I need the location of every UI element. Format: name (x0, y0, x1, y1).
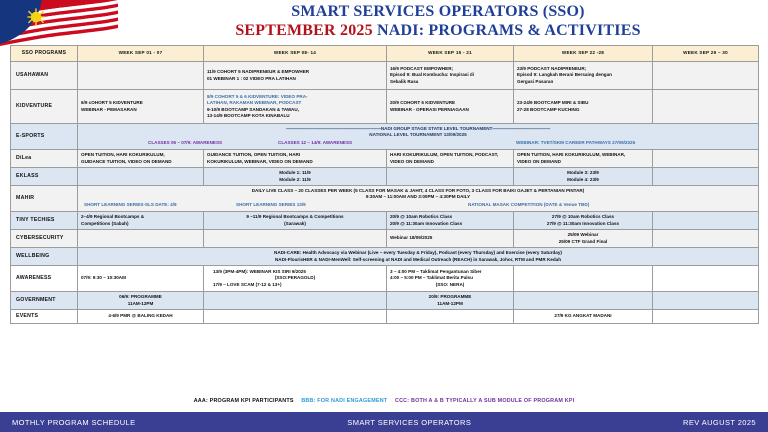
table-row-usahawan: USAHAWAN 11/9 COHORT 5 NADIPRENEUR & EMP… (11, 62, 759, 90)
legend-ccc: CCC: BOTH A & B TYPICALLY A SUB MODULE O… (395, 398, 574, 404)
cell-kidventure-w5 (653, 90, 759, 124)
cell-dilea-w5 (653, 150, 759, 168)
title-month: SEPTEMBER 2025 (235, 22, 373, 39)
cell-tiny-techies-w3: 20/9 @ 10am Robotics Class 20/9 @ 11:30a… (387, 212, 514, 230)
row-label-awareness: AWARENESS (11, 266, 78, 292)
column-header-week-1: WEEK SEP 01 - 07 (78, 46, 204, 62)
cell-wellbeing-span: NADI-CARE: Health Advocacy via Webinar (… (78, 248, 759, 266)
row-label-tiny-techies: TINY TECHIES (11, 212, 78, 230)
cell-tiny-techies-w2: 9 –11/9 Regional Bootcamps & Competition… (204, 212, 387, 230)
table-row-wellbeing: WELLBEING NADI-CARE: Health Advocacy via… (11, 248, 759, 266)
cell-awareness-w2: 13/9 (3PM-4PM): WEBINAR KIS SIRI 9/2025 … (204, 266, 387, 292)
table-row-dilea: DiLea OPEN TUITION, HARI KOKURIKULUM, GU… (11, 150, 759, 168)
cell-esports-w2: CLASSES 12 – 14/9: AWARENESS (278, 140, 352, 146)
column-header-sso-programs: SSO PROGRAMS (11, 46, 78, 62)
table-row-government: GOVERNMENT 06/9: PROGRAMME 11AM-12PM 20/… (11, 292, 759, 310)
row-label-usahawan: USAHAWAN (11, 62, 78, 90)
footer-center-text: SMART SERVICES OPERATORS (136, 418, 683, 427)
cell-events-w1: 4-6/9 PMR @ BALING KEDAH (78, 310, 204, 324)
cell-cybersecurity-w5 (653, 230, 759, 248)
wellbeing-banner-line-2: NADI-FlourisHER & NADI-MenWell: Self-scr… (81, 257, 755, 263)
mahir-banner-line-2: 9:30AM – 11:00AM AND 3:00PM – 4:30PM DAI… (78, 194, 758, 200)
cell-eklass-w2: Module 1: 11/9 Module 2: 11/9 (204, 168, 387, 186)
row-label-government: GOVERNMENT (11, 292, 78, 310)
table-row-mahir: MAHIR DAILY LIVE CLASS – 20 CLASSES PER … (11, 186, 759, 212)
cell-government-w3: 20/9: PROGRAMME 11AM-12PM (387, 292, 514, 310)
legend-aaa: AAA: PROGRAM KPI PARTICIPANTS (194, 398, 294, 404)
cell-mahir-w2: SHORT LEARNING SERIES 13/9 (236, 202, 306, 208)
column-header-week-3: WEEK SEP 15 - 21 (387, 46, 514, 62)
cell-government-w4 (514, 292, 653, 310)
cell-eklass-w3 (387, 168, 514, 186)
cell-cybersecurity-w1 (78, 230, 204, 248)
column-header-week-4: WEEK SEP 22 -28 (514, 46, 653, 62)
cell-awareness-w3: 3 – 4:00 PM – Taklimat Pengantunan Siber… (387, 266, 514, 292)
cell-tiny-techies-w4: 27/9 @ 10am Robotics Class 27/9 @ 11:30a… (514, 212, 653, 230)
cell-government-w1: 06/9: PROGRAMME 11AM-12PM (78, 292, 204, 310)
cell-cybersecurity-w4: 25/09 Webinar 25/09 CTF Grand Final (514, 230, 653, 248)
cell-dilea-w2: GUIDANCE TUITION, OPEN TUITION, HARI KOK… (204, 150, 387, 168)
cell-usahawan-w5 (653, 62, 759, 90)
schedule-page: SMART SERVICES OPERATORS (SSO) SEPTEMBER… (0, 0, 768, 432)
cell-government-w2 (204, 292, 387, 310)
row-label-esports: E-SPORTS (11, 124, 78, 150)
cell-awareness-w1: 07/9: 9:30 – 10:30AM (78, 266, 204, 292)
cell-usahawan-w2: 11/9 COHORT 5 NADIPRENEUR & EMPOWHER 01 … (204, 62, 387, 90)
page-title: SMART SERVICES OPERATORS (SSO) SEPTEMBER… (118, 2, 758, 41)
title-line-1: SMART SERVICES OPERATORS (SSO) (118, 2, 758, 21)
table-row-kidventure: KIDVENTURE 6/9 cOHORT 5 KIDVENTURE WEBIN… (11, 90, 759, 124)
cell-mahir-w4: NATIONAL MASAK COMPETITION (DATE & Venue… (468, 202, 589, 208)
esports-banner-line-1: NADI GROUP STAGE STATE LEVEL TOURNAMENT (381, 126, 493, 131)
cell-awareness-w4 (514, 266, 653, 292)
table-row-events: EVENTS 4-6/9 PMR @ BALING KEDAH 27/9 KG … (11, 310, 759, 324)
column-header-week-2: WEEK SEP 08- 14 (204, 46, 387, 62)
cell-tiny-techies-w1: 2–4/9 Regional Bootcamps & Competitions … (78, 212, 204, 230)
cell-usahawan-w3: 16/9 PODCAST EMPOWHER; Episod 9: Bual Ko… (387, 62, 514, 90)
cell-dilea-w4: OPEN TUITION, HARI KOKURIKULUM, WEBINAR,… (514, 150, 653, 168)
cell-events-w4: 27/9 KG ANGKAT MADANI (514, 310, 653, 324)
row-label-wellbeing: WELLBEING (11, 248, 78, 266)
cell-cybersecurity-w3: Webinar 18/09/2025 (387, 230, 514, 248)
esports-banner-line-2: NATIONAL LEVEL TOURNAMENT 13/09/2025 (78, 132, 758, 138)
row-label-events: EVENTS (11, 310, 78, 324)
legend-bbb: BBB: FOR NADI ENGAGEMENT (301, 398, 387, 404)
table-row-eklass: EKLASS Module 1: 11/9 Module 2: 11/9 Mod… (11, 168, 759, 186)
header-row: SSO PROGRAMS WEEK SEP 01 - 07 WEEK SEP 0… (11, 46, 759, 62)
cell-events-w2 (204, 310, 387, 324)
schedule-table: SSO PROGRAMS WEEK SEP 01 - 07 WEEK SEP 0… (10, 45, 759, 324)
cell-eklass-w5 (653, 168, 759, 186)
cell-usahawan-w4: 23/9 PODCAST NADIPRENEUR; Episod 9: Lang… (514, 62, 653, 90)
row-label-dilea: DiLea (11, 150, 78, 168)
cell-kidventure-w4: 23-24/9 BOOTCAMP MIRI & SIBU 27-28 BOOTC… (514, 90, 653, 124)
cell-dilea-w1: OPEN TUITION, HARI KOKURIKULUM, GUIDANCE… (78, 150, 204, 168)
table-row-esports: E-SPORTS -------------------------------… (11, 124, 759, 150)
cell-dilea-w3: HARI KOKURIKULUM, OPEN TUITION, PODCAST,… (387, 150, 514, 168)
cell-awareness-w5 (653, 266, 759, 292)
footer-right-text: REV AUGUST 2025 (683, 418, 768, 427)
row-label-kidventure: KIDVENTURE (11, 90, 78, 124)
malaysia-flag-icon (0, 0, 118, 48)
row-label-cybersecurity: CYBERSECURITY (11, 230, 78, 248)
table-row-tiny-techies: TINY TECHIES 2–4/9 Regional Bootcamps & … (11, 212, 759, 230)
cell-cybersecurity-w2 (204, 230, 387, 248)
cell-mahir-w1: SHORT LEARNING SERIES-SLS DATE: 4/9 (84, 202, 177, 208)
cell-usahawan-w1 (78, 62, 204, 90)
footer-left-text: MOTHLY PROGRAM SCHEDULE (0, 418, 136, 427)
cell-esports-span: ----------------------------------------… (78, 124, 759, 150)
cell-esports-w4: WEBINAR: TVET/SKM CAREER PATHWAYS 27/09/… (516, 140, 635, 146)
cell-kidventure-w3: 20/9 COHORT 6 KIDVENTURE WEBINAR - OPERA… (387, 90, 514, 124)
cell-events-w3 (387, 310, 514, 324)
table-row-awareness: AWARENESS 07/9: 9:30 – 10:30AM 13/9 (3PM… (11, 266, 759, 292)
column-header-week-5: WEEK SEP 29 – 30 (653, 46, 759, 62)
cell-mahir-span: DAILY LIVE CLASS – 20 CLASSES PER WEEK (… (78, 186, 759, 212)
row-label-eklass: EKLASS (11, 168, 78, 186)
cell-eklass-w4: Module 3: 23/9 Module 4: 23/9 (514, 168, 653, 186)
table-header: SSO PROGRAMS WEEK SEP 01 - 07 WEEK SEP 0… (11, 46, 759, 62)
title-line-2: SEPTEMBER 2025 NADI: PROGRAMS & ACTIVITI… (118, 21, 758, 41)
footer-bar: MOTHLY PROGRAM SCHEDULE SMART SERVICES O… (0, 412, 768, 432)
row-label-mahir: MAHIR (11, 186, 78, 212)
cell-eklass-w1 (78, 168, 204, 186)
cell-esports-w1: CLASSES 05 – 07/9: AWARENESS (148, 140, 222, 146)
cell-events-w5 (653, 310, 759, 324)
title-line-2-rest: NADI: PROGRAMS & ACTIVITIES (373, 22, 641, 39)
cell-kidventure-w1: 6/9 cOHORT 5 KIDVENTURE WEBINAR - PEMASA… (78, 90, 204, 124)
cell-kidventure-w2: 8/9 COHORT 5 & 6 KIDVENTURE: VIDEO PRA- … (204, 90, 387, 124)
cell-tiny-techies-w5 (653, 212, 759, 230)
table-row-cybersecurity: CYBERSECURITY Webinar 18/09/2025 25/09 W… (11, 230, 759, 248)
legend: AAA: PROGRAM KPI PARTICIPANTS BBB: FOR N… (0, 398, 768, 404)
cell-government-w5 (653, 292, 759, 310)
